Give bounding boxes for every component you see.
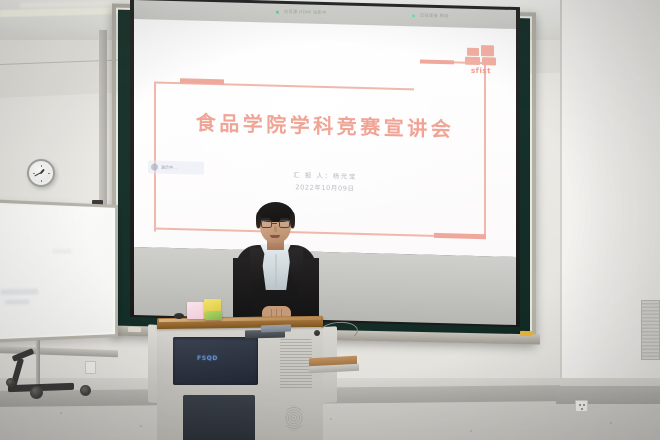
presentation-status-label: 演示中… — [161, 164, 177, 170]
whiteboard-surface — [0, 205, 113, 338]
floor-speck — [610, 422, 612, 424]
presentation-status-chip[interactable]: 演示中… — [148, 160, 204, 174]
sfist-logo-icon: sfist — [464, 45, 498, 76]
whiteboard-leg — [36, 340, 40, 388]
presenter-person — [228, 202, 324, 330]
clock-tick — [33, 173, 35, 174]
green-box — [205, 311, 222, 320]
outlet-slot — [583, 404, 585, 407]
baseboard-right — [556, 386, 660, 404]
person-sideburn — [290, 212, 295, 228]
clock-tick — [41, 165, 42, 167]
projector-left-status: 信号源 HDMI 投影中 — [284, 9, 327, 16]
whiteboard-smudge — [5, 300, 29, 305]
chalk-piece — [520, 331, 533, 336]
pink-box — [187, 302, 205, 319]
signal-dot-icon — [276, 11, 279, 14]
clock-tick — [48, 173, 50, 174]
slide-border-left — [154, 82, 156, 232]
logo-block-4 — [482, 57, 496, 65]
lectern-brand-label: FSQD — [197, 355, 218, 362]
clock-face — [31, 163, 51, 183]
whiteboard-caster — [80, 385, 91, 396]
person-nose — [274, 226, 277, 232]
logo-wordmark: sfist — [464, 66, 498, 76]
outlet-slot — [579, 404, 581, 407]
mobile-whiteboard — [0, 199, 118, 343]
computer-mouse[interactable] — [174, 313, 184, 319]
slide-content: sfist 食品学院学科竞赛宣讲会 汇 报 人：杨光宝 2022年10月09日 … — [134, 19, 516, 257]
eyeglasses-icon — [279, 220, 290, 228]
play-circle-icon — [151, 163, 158, 170]
lectern-vent-grille — [280, 339, 312, 389]
wall-corner-edge — [560, 0, 562, 420]
floor-speck — [330, 418, 332, 420]
floor-speck — [140, 425, 142, 427]
projection-screen: 信号源 HDMI 投影中 正在连接 移动 sfist — [130, 0, 520, 327]
eraser — [128, 327, 141, 332]
whiteboard-smudge — [1, 289, 38, 295]
person-zipper — [275, 254, 277, 288]
outlet-slot — [581, 408, 583, 411]
microphone-head-icon — [314, 330, 320, 336]
floor-speck — [60, 412, 62, 414]
logo-block-1 — [467, 48, 479, 56]
clock-center-pin — [40, 172, 43, 175]
person-mouth — [270, 235, 280, 238]
floor-speck — [470, 430, 472, 432]
slide-accent-corner — [420, 59, 454, 64]
clock-tick — [41, 180, 42, 182]
whiteboard-caster — [30, 386, 43, 399]
wall-clock — [27, 159, 55, 187]
wall-vent-panel — [641, 300, 660, 360]
projector-right-status: 正在连接 移动 — [420, 12, 449, 19]
whiteboard-caster — [6, 378, 15, 387]
wall-outlet — [575, 400, 588, 412]
lectern: FSQD — [157, 313, 323, 440]
logo-block-2 — [481, 45, 494, 56]
eyeglasses-icon — [261, 220, 272, 228]
classroom-photo: 信号源 HDMI 投影中 正在连接 移动 sfist — [0, 0, 660, 440]
eyeglasses-bridge — [272, 223, 277, 224]
logo-block-3 — [465, 57, 480, 65]
lectern-laptop-lid[interactable] — [261, 324, 291, 332]
whiteboard-smudge — [53, 249, 72, 253]
lectern-lower-panel — [183, 395, 255, 440]
wall-outlet-left — [85, 361, 96, 374]
lectern-speaker-grille — [285, 405, 303, 431]
connection-dot-icon — [412, 14, 415, 17]
slide-border-right — [484, 62, 486, 238]
